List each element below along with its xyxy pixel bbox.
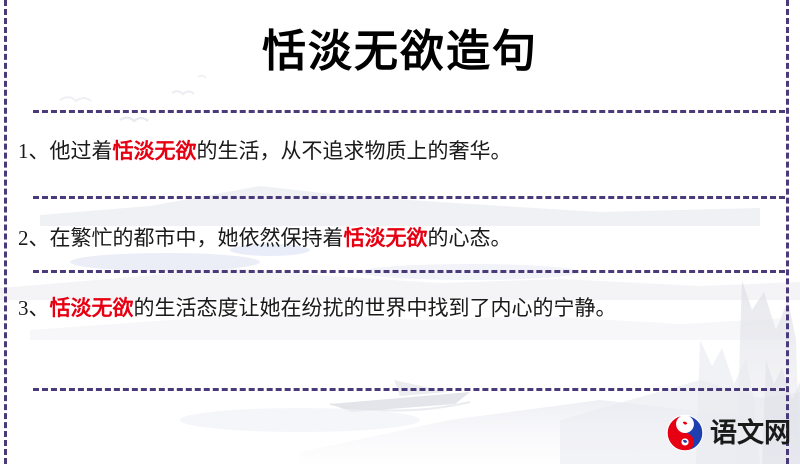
- sentence-text-1-before: 他过着: [50, 139, 113, 163]
- sentence-text-2-after: 的心态。: [428, 226, 512, 250]
- sentence-item-3: 3、恬淡无欲的生活态度让她在纷扰的世界中找到了内心的宁静。: [18, 288, 778, 328]
- keyword-highlight-1: 恬淡无欲: [113, 139, 197, 163]
- sentence-text-2-before: 在繁忙的都市中，她依然保持着: [50, 226, 344, 250]
- logo-text: 语文网: [710, 420, 791, 447]
- separator-rule-1-2: [33, 196, 785, 199]
- page-title: 恬淡无欲造句: [0, 24, 800, 79]
- sentence-page: 恬淡无欲造句 1、他过着恬淡无欲的生活，从不追求物质上的奢华。 2、在繁忙的都市…: [0, 0, 800, 464]
- left-dashed-border: [4, 0, 7, 464]
- sentence-item-1: 1、他过着恬淡无欲的生活，从不追求物质上的奢华。: [18, 131, 778, 171]
- keyword-highlight-3: 恬淡无欲: [50, 296, 134, 320]
- keyword-highlight-2: 恬淡无欲: [344, 226, 428, 250]
- sentence-number-2: 2、: [18, 226, 50, 250]
- sentence-number-1: 1、: [18, 139, 50, 163]
- sentence-number-3: 3、: [18, 296, 50, 320]
- right-dashed-border: [786, 0, 789, 464]
- separator-rule-2-3: [33, 270, 785, 273]
- yin-yang-circle-icon: [666, 414, 704, 452]
- separator-rule-top: [33, 110, 785, 113]
- site-logo[interactable]: 语文网: [666, 414, 791, 452]
- sentence-text-3-after: 的生活态度让她在纷扰的世界中找到了内心的宁静。: [134, 296, 617, 320]
- sentence-item-2: 2、在繁忙的都市中，她依然保持着恬淡无欲的心态。: [18, 218, 778, 258]
- separator-rule-bottom: [33, 388, 785, 391]
- sentence-text-1-after: 的生活，从不追求物质上的奢华。: [197, 139, 512, 163]
